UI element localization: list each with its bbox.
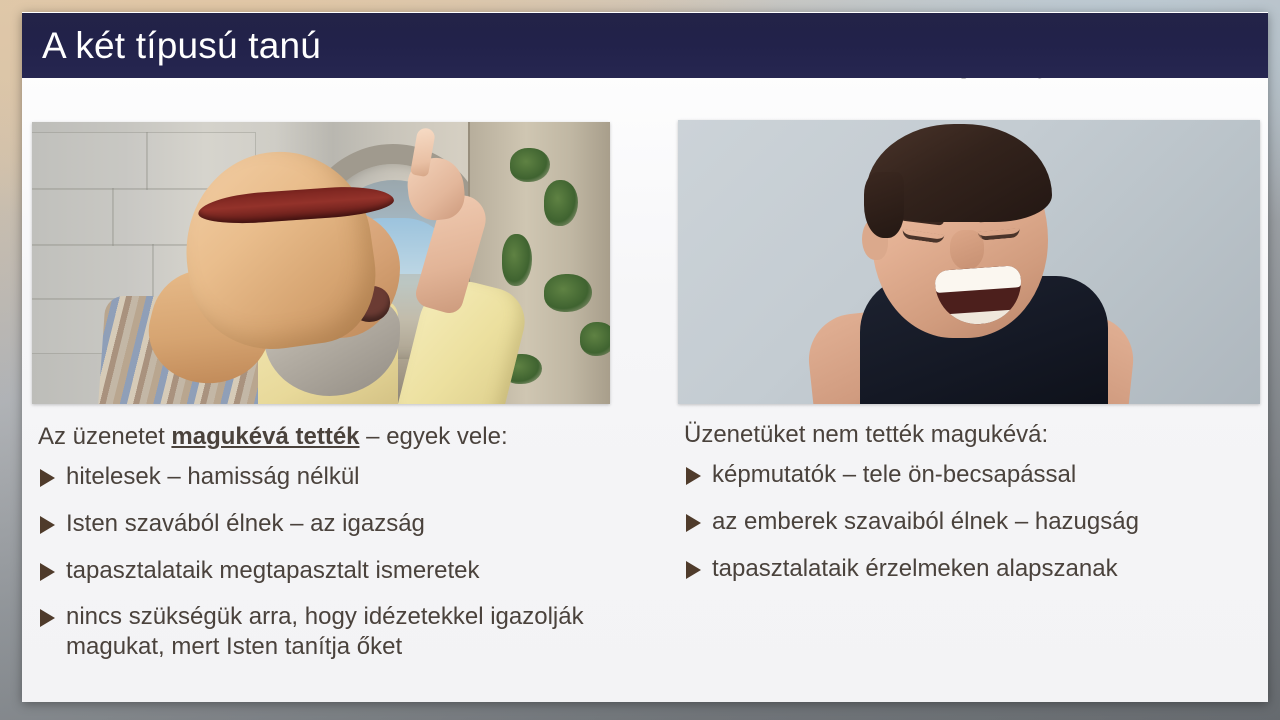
slide-title: A két típusú tanú (22, 27, 321, 64)
ivy-leaf (580, 322, 610, 356)
upper-teeth (934, 265, 1021, 293)
triangle-right-icon (40, 609, 55, 627)
list-item: az emberek szavaiból élnek – hazugság (684, 507, 1276, 537)
bullet-list-left: hitelesek – hamisság nélkül Isten szaváb… (38, 462, 630, 679)
list-item-label: az emberek szavaiból élnek – hazugság (712, 508, 1139, 535)
list-item-label: tapasztalataik megtapasztalt ismeretek (66, 557, 480, 584)
brick (32, 188, 114, 246)
intro-emphasis-left: magukévá tették (171, 423, 359, 450)
column-false-witnesses: HAMIS TANÚK (678, 78, 1278, 702)
intro-before-left: Az üzenetet (38, 423, 171, 450)
slide-root: A két típusú tanú IGAZ TANÚK (0, 0, 1280, 720)
list-item-label: nincs szükségük arra, hogy idézetekkel i… (66, 603, 584, 660)
list-item-label: Isten szavából élnek – az igazság (66, 510, 425, 537)
laughing-mouth (934, 265, 1024, 327)
title-bar: A két típusú tanú (22, 13, 1268, 78)
triangle-right-icon (40, 516, 55, 534)
hair-sideburn (864, 172, 904, 238)
photo-artwork (678, 120, 1260, 404)
intro-text-left: Az üzenetet magukévá tették – egyek vele… (38, 422, 618, 452)
columns-container: IGAZ TANÚK (22, 78, 1268, 702)
triangle-right-icon (40, 563, 55, 581)
bullet-list-right: képmutatók – tele ön-becsapással az embe… (684, 460, 1276, 600)
illustration-artwork (32, 122, 610, 404)
brick (32, 244, 154, 300)
intro-text-right: Üzenetüket nem tették magukévá: (684, 420, 1254, 450)
list-item: nincs szükségük arra, hogy idézetekkel i… (38, 602, 630, 662)
list-item: Isten szavából élnek – az igazság (38, 509, 630, 539)
triangle-right-icon (686, 561, 701, 579)
photo-false-witness (678, 120, 1260, 404)
illustration-true-witness (32, 122, 610, 404)
list-item-label: tapasztalataik érzelmeken alapszanak (712, 555, 1118, 582)
nose (950, 230, 984, 270)
brick (32, 132, 148, 190)
list-item: képmutatók – tele ön-becsapással (684, 460, 1276, 490)
intro-before-right: Üzenetüket nem tették magukévá: (684, 421, 1048, 448)
list-item: tapasztalataik érzelmeken alapszanak (684, 554, 1276, 584)
triangle-right-icon (686, 467, 701, 485)
list-item: hitelesek – hamisság nélkül (38, 462, 630, 492)
triangle-right-icon (686, 514, 701, 532)
list-item-label: hitelesek – hamisság nélkül (66, 463, 360, 490)
list-item-label: képmutatók – tele ön-becsapással (712, 461, 1076, 488)
list-item: tapasztalataik megtapasztalt ismeretek (38, 556, 630, 586)
intro-after-left: – egyek vele: (360, 423, 508, 450)
triangle-right-icon (40, 469, 55, 487)
column-true-witnesses: IGAZ TANÚK (32, 78, 632, 702)
